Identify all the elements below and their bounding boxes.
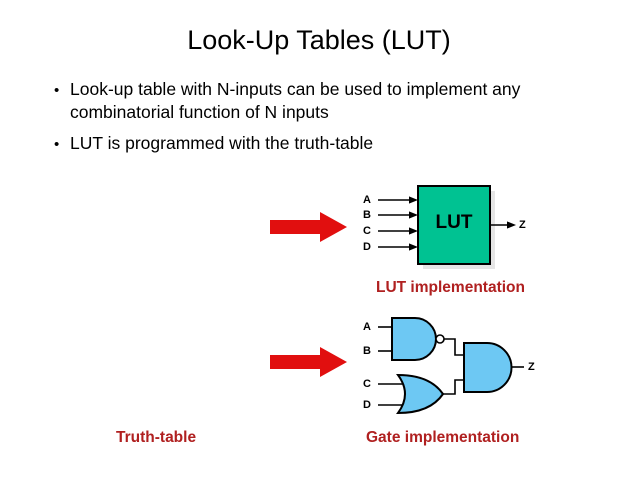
truth-table-caption: Truth-table	[116, 429, 196, 447]
nand-gate-icon	[378, 318, 444, 360]
gate-input-label-c: C	[363, 379, 371, 390]
diagram-vector-layer	[0, 0, 638, 479]
or-gate-icon	[378, 375, 443, 413]
slide-canvas: Look-Up Tables (LUT) • Look-up table wit…	[0, 0, 638, 479]
and-gate-icon	[464, 343, 511, 392]
lut-implementation-caption: LUT implementation	[376, 279, 525, 297]
gate-input-label-b: B	[363, 346, 371, 357]
lut-output-label-z: Z	[519, 220, 526, 231]
red-arrow-icon-lut	[270, 212, 347, 242]
lut-input-label-b: B	[363, 210, 371, 221]
gate-output-label-z: Z	[528, 362, 535, 373]
lut-input-label-d: D	[363, 242, 371, 253]
lut-input-label-a: A	[363, 195, 371, 206]
lut-input-label-c: C	[363, 226, 371, 237]
gate-level-diagram	[378, 318, 524, 413]
lut-block-label: LUT	[418, 212, 490, 234]
gate-input-label-d: D	[363, 400, 371, 411]
gate-implementation-caption: Gate implementation	[366, 429, 519, 447]
red-arrow-icon-gates	[270, 347, 347, 377]
gate-input-label-a: A	[363, 322, 371, 333]
